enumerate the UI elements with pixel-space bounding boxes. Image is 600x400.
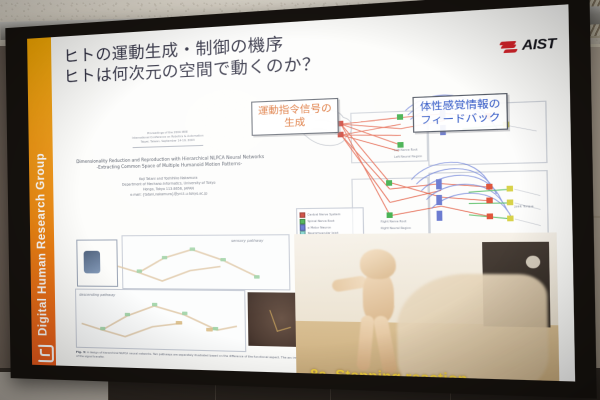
projection-screen: Digital Human Research Group ヒトの運動生成・制御の…	[5, 0, 596, 399]
paper-conference: Proceedings of the 2004 IEEE Internation…	[132, 130, 204, 149]
sensory-pathway-label: sensory pathway	[231, 239, 263, 243]
paper-authors: Koji Tatani and Yoshihiko Nakamura Depar…	[69, 174, 273, 199]
infant-head	[360, 249, 396, 279]
aist-logo-text: AIST	[522, 35, 556, 53]
nn-label-joint-torque: Joint Torque	[515, 205, 534, 209]
nn-label-right-nerve-root: Right Nerve Root	[381, 220, 407, 224]
legend-item: Central Nerve System	[299, 211, 360, 217]
callout-motor-command-generation: 運動指令信号の 生成	[251, 98, 339, 135]
figure-caption-prefix: Fig. 3:	[76, 350, 86, 354]
descending-pathway-box	[75, 289, 246, 353]
sensory-pathway-box	[121, 234, 290, 290]
sidebar-label: Digital Human Research Group	[35, 153, 50, 336]
nn-label-left-neural-region: Left Neural Region	[394, 155, 422, 159]
screenshot-root: Digital Human Research Group ヒトの運動生成・制御の…	[0, 0, 600, 400]
figure-caption-text: A design of hierarchical NLPCA neural ne…	[76, 351, 317, 360]
callout-somatosensory-feedback: 体性感覚情報の フィードバック	[412, 93, 508, 132]
stepping-reaction-video[interactable]: 8a. Stepping reaction H. Kobayashi	[294, 232, 560, 381]
aist-mark-icon	[500, 39, 519, 53]
paper-title: Dimensionality Reduction and Reproductio…	[69, 154, 273, 173]
humanoid-robot-photo	[76, 239, 118, 286]
legend-item: α Motor Neuron	[300, 224, 361, 230]
nn-label-left-nerve-root: Left Nerve Root	[394, 148, 418, 152]
dh-bracket-logo-icon	[36, 344, 52, 361]
callout-somato-line-2: フィードバック	[420, 111, 501, 127]
presentation-slide: Digital Human Research Group ヒトの運動生成・制御の…	[27, 4, 575, 381]
pathway-figure: sensory pathway descending pathway	[74, 234, 291, 351]
figure-caption: Fig. 3: A design of hierarchical NLPCA n…	[76, 350, 317, 366]
sidebar-banner: Digital Human Research Group	[27, 37, 56, 365]
legend-swatch-alpha-motor	[300, 225, 306, 231]
aist-logo: AIST	[500, 35, 556, 54]
legend-swatch-spinal	[300, 218, 306, 224]
conference-line-3: Taipei, Taiwan, September 14-19, 2003	[132, 139, 204, 146]
adult-hands-figure	[396, 274, 549, 382]
legend-item: Spinal Nerve Root	[300, 218, 361, 224]
descending-pathway-label: descending pathway	[79, 293, 115, 297]
legend-swatch-cns	[299, 212, 305, 218]
legend-label: Central Nerve System	[307, 213, 340, 217]
legend-label: Spinal Nerve Root	[307, 219, 334, 223]
legend-label: α Motor Neuron	[308, 226, 332, 229]
paper-excerpt: Proceedings of the 2004 IEEE Internation…	[68, 122, 272, 198]
nn-label-right-neural-region: Right Neural Region	[381, 227, 411, 231]
